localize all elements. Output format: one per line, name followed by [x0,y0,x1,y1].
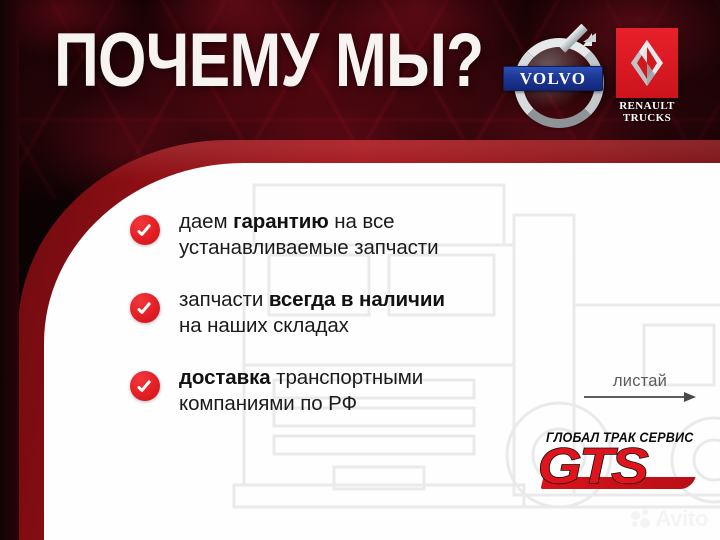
renault-wordmark-line2: TRUCKS [616,112,678,124]
benefit-item-delivery: доставка транспортными компаниями по РФ [130,365,445,417]
left-edge-decoration [0,0,19,540]
promo-slide: ПОЧЕМУ МЫ? VOLVO [0,0,720,540]
avito-watermark: Avito [631,508,708,530]
swipe-hint[interactable]: листай [584,372,696,402]
renault-red-box [616,28,678,98]
avito-wordmark: Avito [655,508,708,530]
renault-diamond-icon [631,40,663,86]
swipe-hint-label: листай [584,372,696,391]
volvo-arrow-icon [562,33,592,63]
benefit-item-warranty: даем гарантию на все устанавливаемые зап… [130,209,445,261]
benefit-text: даем гарантию на все устанавливаемые зап… [179,209,438,261]
company-mark: GTS [538,441,646,491]
volvo-logo: VOLVO [506,30,598,122]
brand-logo-group: VOLVO [506,28,686,134]
benefit-text: запчасти всегда в наличии на наших склад… [179,287,445,339]
check-circle-icon [130,215,160,245]
benefit-line2: устанавливаемые запчасти [179,236,438,259]
renault-trucks-logo: RENAULT TRUCKS [616,28,678,132]
benefit-line1-post: на все [329,210,395,233]
benefit-line2: компаниями по РФ [179,392,357,415]
benefit-line1-pre: запчасти [179,288,269,311]
volvo-wordmark-bar: VOLVO [503,66,603,91]
benefit-text: доставка транспортными компаниями по РФ [179,365,423,417]
volvo-wordmark: VOLVO [520,69,587,89]
renault-wordmark-line1: RENAULT [616,100,678,112]
page-title: ПОЧЕМУ МЫ? [54,23,483,99]
benefit-line1-post: транспортными [271,366,424,389]
arrow-right-icon [584,392,696,402]
avito-dots-icon [631,509,651,529]
check-circle-icon [130,371,160,401]
benefits-list: даем гарантию на все устанавливаемые зап… [130,209,445,417]
benefit-line1-bold: доставка [179,366,271,389]
benefit-line2: на наших складах [179,314,349,337]
renault-wordmark: RENAULT TRUCKS [616,100,678,124]
benefit-line1-bold: всегда в наличии [269,288,445,311]
company-logo: ГЛОБАЛ ТРАК СЕРВИС GTS [538,430,698,492]
check-circle-icon [130,293,160,323]
benefit-line1-bold: гарантию [233,210,329,233]
benefit-line1-pre: даем [179,210,233,233]
benefit-item-stock: запчасти всегда в наличии на наших склад… [130,287,445,339]
